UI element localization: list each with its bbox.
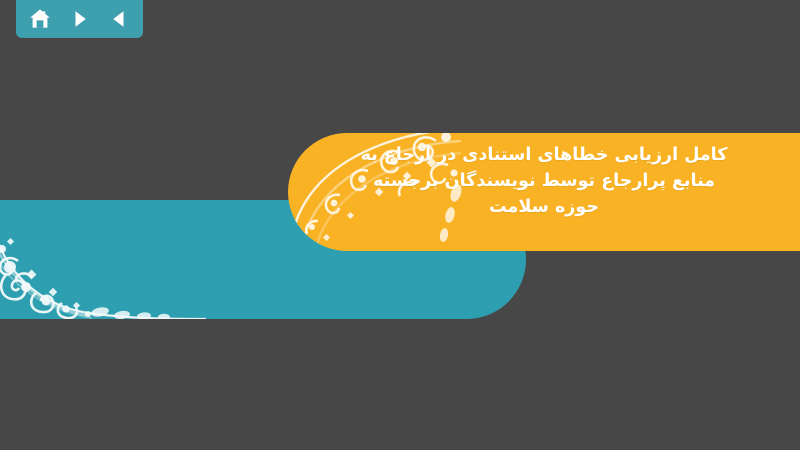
home-button[interactable] bbox=[27, 6, 53, 32]
arabesque-ornament-icon bbox=[288, 133, 463, 251]
arabesque-ornament-icon bbox=[0, 209, 207, 319]
navigation-bar bbox=[16, 0, 143, 38]
presentation-slide: کامل ارزیابی خطاهای استنادی در ارجاع به … bbox=[0, 0, 800, 450]
triangle-right-icon bbox=[70, 9, 90, 29]
house-icon bbox=[29, 8, 51, 30]
forward-button[interactable] bbox=[67, 6, 93, 32]
back-button[interactable] bbox=[106, 6, 132, 32]
triangle-left-icon bbox=[109, 9, 129, 29]
orange-title-panel bbox=[288, 133, 800, 251]
